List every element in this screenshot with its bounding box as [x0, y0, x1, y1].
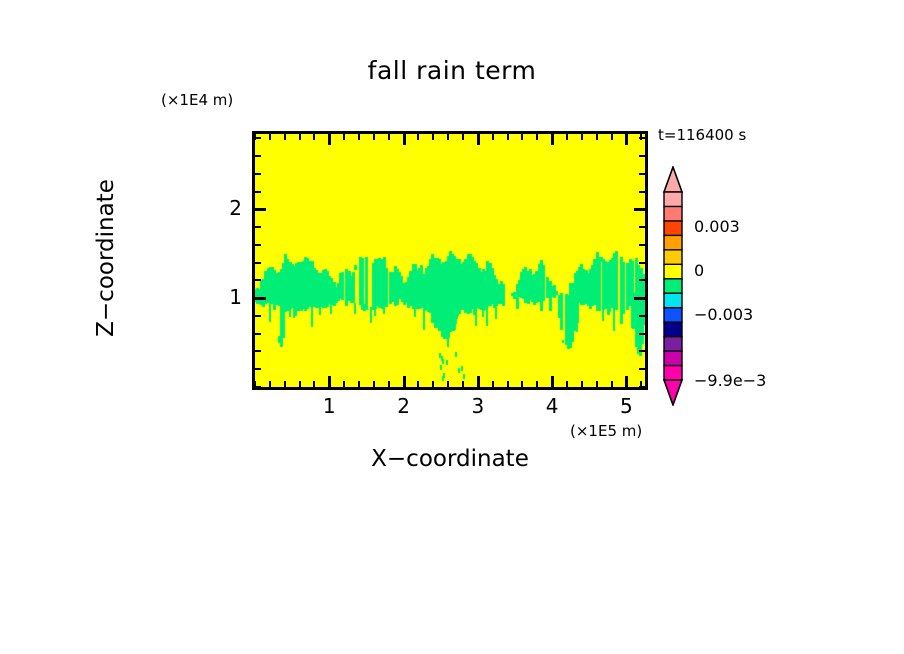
y-tick-minor	[255, 315, 261, 317]
x-tick-minor-top	[432, 134, 434, 140]
x-axis-unit-label: (×1E5 m)	[570, 422, 642, 440]
x-tick-minor-top	[596, 134, 598, 140]
x-tick-minor-top	[373, 134, 375, 140]
colorbar-band	[664, 279, 682, 294]
x-tick-minor-top	[447, 134, 449, 140]
colorbar-band	[664, 322, 682, 337]
x-tick-major	[477, 376, 480, 387]
y-tick-minor-right	[639, 315, 645, 317]
x-tick-label: 2	[384, 394, 424, 418]
y-axis-unit-label: (×1E4 m)	[161, 91, 233, 109]
colorbar-band	[664, 293, 682, 308]
colorbar-band	[664, 264, 682, 279]
x-tick-minor	[521, 381, 523, 387]
colorbar-band	[664, 366, 682, 381]
x-tick-minor	[284, 381, 286, 387]
x-tick-major	[328, 376, 331, 387]
x-tick-minor-top	[284, 134, 286, 140]
x-tick-minor	[596, 381, 598, 387]
y-tick-minor-right	[639, 191, 645, 193]
colorbar-band	[664, 250, 682, 265]
y-tick-minor	[255, 244, 261, 246]
y-tick-minor-right	[639, 350, 645, 352]
heatmap-field	[255, 134, 645, 387]
y-tick-minor	[255, 137, 261, 139]
x-tick-minor	[462, 381, 464, 387]
colorbar-labels: 0.0030−0.003−9.9e−3	[694, 166, 814, 406]
y-tick-minor-right	[639, 262, 645, 264]
x-tick-minor-top	[313, 134, 315, 140]
colorbar-band	[664, 192, 682, 207]
x-tick-minor	[611, 381, 613, 387]
colorbar-arrow-top	[664, 167, 682, 192]
y-tick-minor	[255, 226, 261, 228]
y-tick-label: 2	[202, 196, 242, 220]
x-tick-minor	[581, 381, 583, 387]
x-tick-minor	[492, 381, 494, 387]
colorbar-svg	[661, 166, 685, 406]
y-tick-minor	[255, 386, 261, 388]
colorbar-band	[664, 235, 682, 250]
y-tick-minor-right	[639, 333, 645, 335]
y-tick-minor-right	[639, 279, 645, 281]
page-title: fall rain term	[0, 56, 904, 85]
y-tick-minor	[255, 262, 261, 264]
x-tick-minor-top	[507, 134, 509, 140]
plot-area	[252, 131, 648, 390]
colorbar	[661, 166, 685, 406]
x-tick-major	[625, 376, 628, 387]
x-tick-label: 1	[309, 394, 349, 418]
y-tick-minor	[255, 333, 261, 335]
x-tick-minor-top	[581, 134, 583, 140]
colorbar-band	[664, 351, 682, 366]
y-tick-minor-right	[639, 173, 645, 175]
y-tick-minor-right	[639, 386, 645, 388]
y-tick-minor-right	[639, 244, 645, 246]
x-tick-minor-top	[269, 134, 271, 140]
x-tick-minor-top	[462, 134, 464, 140]
x-tick-major-top	[403, 134, 406, 145]
x-tick-major-top	[625, 134, 628, 145]
colorbar-arrow-bottom	[664, 380, 682, 405]
x-tick-label: 4	[532, 394, 572, 418]
y-tick-major	[255, 297, 266, 300]
y-tick-major-right	[634, 208, 645, 211]
x-tick-major	[403, 376, 406, 387]
x-tick-minor-top	[358, 134, 360, 140]
y-tick-major	[255, 208, 266, 211]
y-tick-minor	[255, 173, 261, 175]
x-tick-minor	[343, 381, 345, 387]
x-tick-minor-top	[611, 134, 613, 140]
y-tick-minor	[255, 368, 261, 370]
colorbar-tick-label: −9.9e−3	[694, 371, 766, 390]
x-axis-title: X−coordinate	[252, 446, 648, 472]
x-tick-minor	[269, 381, 271, 387]
x-tick-minor	[507, 381, 509, 387]
y-tick-minor	[255, 155, 261, 157]
x-tick-minor-top	[536, 134, 538, 140]
x-tick-label: 3	[458, 394, 498, 418]
y-tick-label: 1	[202, 285, 242, 309]
x-tick-major-top	[477, 134, 480, 145]
x-tick-minor	[566, 381, 568, 387]
x-tick-major	[551, 376, 554, 387]
x-tick-minor	[373, 381, 375, 387]
colorbar-band	[664, 206, 682, 221]
x-tick-minor	[432, 381, 434, 387]
x-tick-minor	[447, 381, 449, 387]
x-tick-minor	[536, 381, 538, 387]
x-tick-minor-top	[492, 134, 494, 140]
x-tick-major-top	[551, 134, 554, 145]
x-tick-minor-top	[299, 134, 301, 140]
x-tick-minor-top	[521, 134, 523, 140]
colorbar-band	[664, 221, 682, 236]
x-tick-major-top	[328, 134, 331, 145]
x-tick-minor	[313, 381, 315, 387]
y-tick-major-right	[634, 297, 645, 300]
colorbar-tick-label: 0.003	[694, 217, 740, 236]
y-tick-minor-right	[639, 368, 645, 370]
colorbar-tick-label: −0.003	[694, 305, 753, 324]
y-tick-minor-right	[639, 226, 645, 228]
y-tick-minor	[255, 350, 261, 352]
x-tick-minor	[358, 381, 360, 387]
x-tick-minor	[388, 381, 390, 387]
y-tick-minor-right	[639, 155, 645, 157]
x-tick-label: 5	[606, 394, 646, 418]
x-tick-minor-top	[566, 134, 568, 140]
x-tick-minor-top	[343, 134, 345, 140]
y-tick-minor-right	[639, 137, 645, 139]
y-axis-title: Z−coordinate	[93, 128, 119, 388]
colorbar-tick-label: 0	[694, 261, 704, 280]
colorbar-band	[664, 337, 682, 352]
x-tick-minor-top	[417, 134, 419, 140]
colorbar-band	[664, 308, 682, 323]
x-tick-minor	[299, 381, 301, 387]
y-tick-minor	[255, 279, 261, 281]
time-annotation: t=116400 s	[658, 126, 746, 144]
y-tick-minor	[255, 191, 261, 193]
x-tick-minor-top	[388, 134, 390, 140]
x-tick-minor	[417, 381, 419, 387]
